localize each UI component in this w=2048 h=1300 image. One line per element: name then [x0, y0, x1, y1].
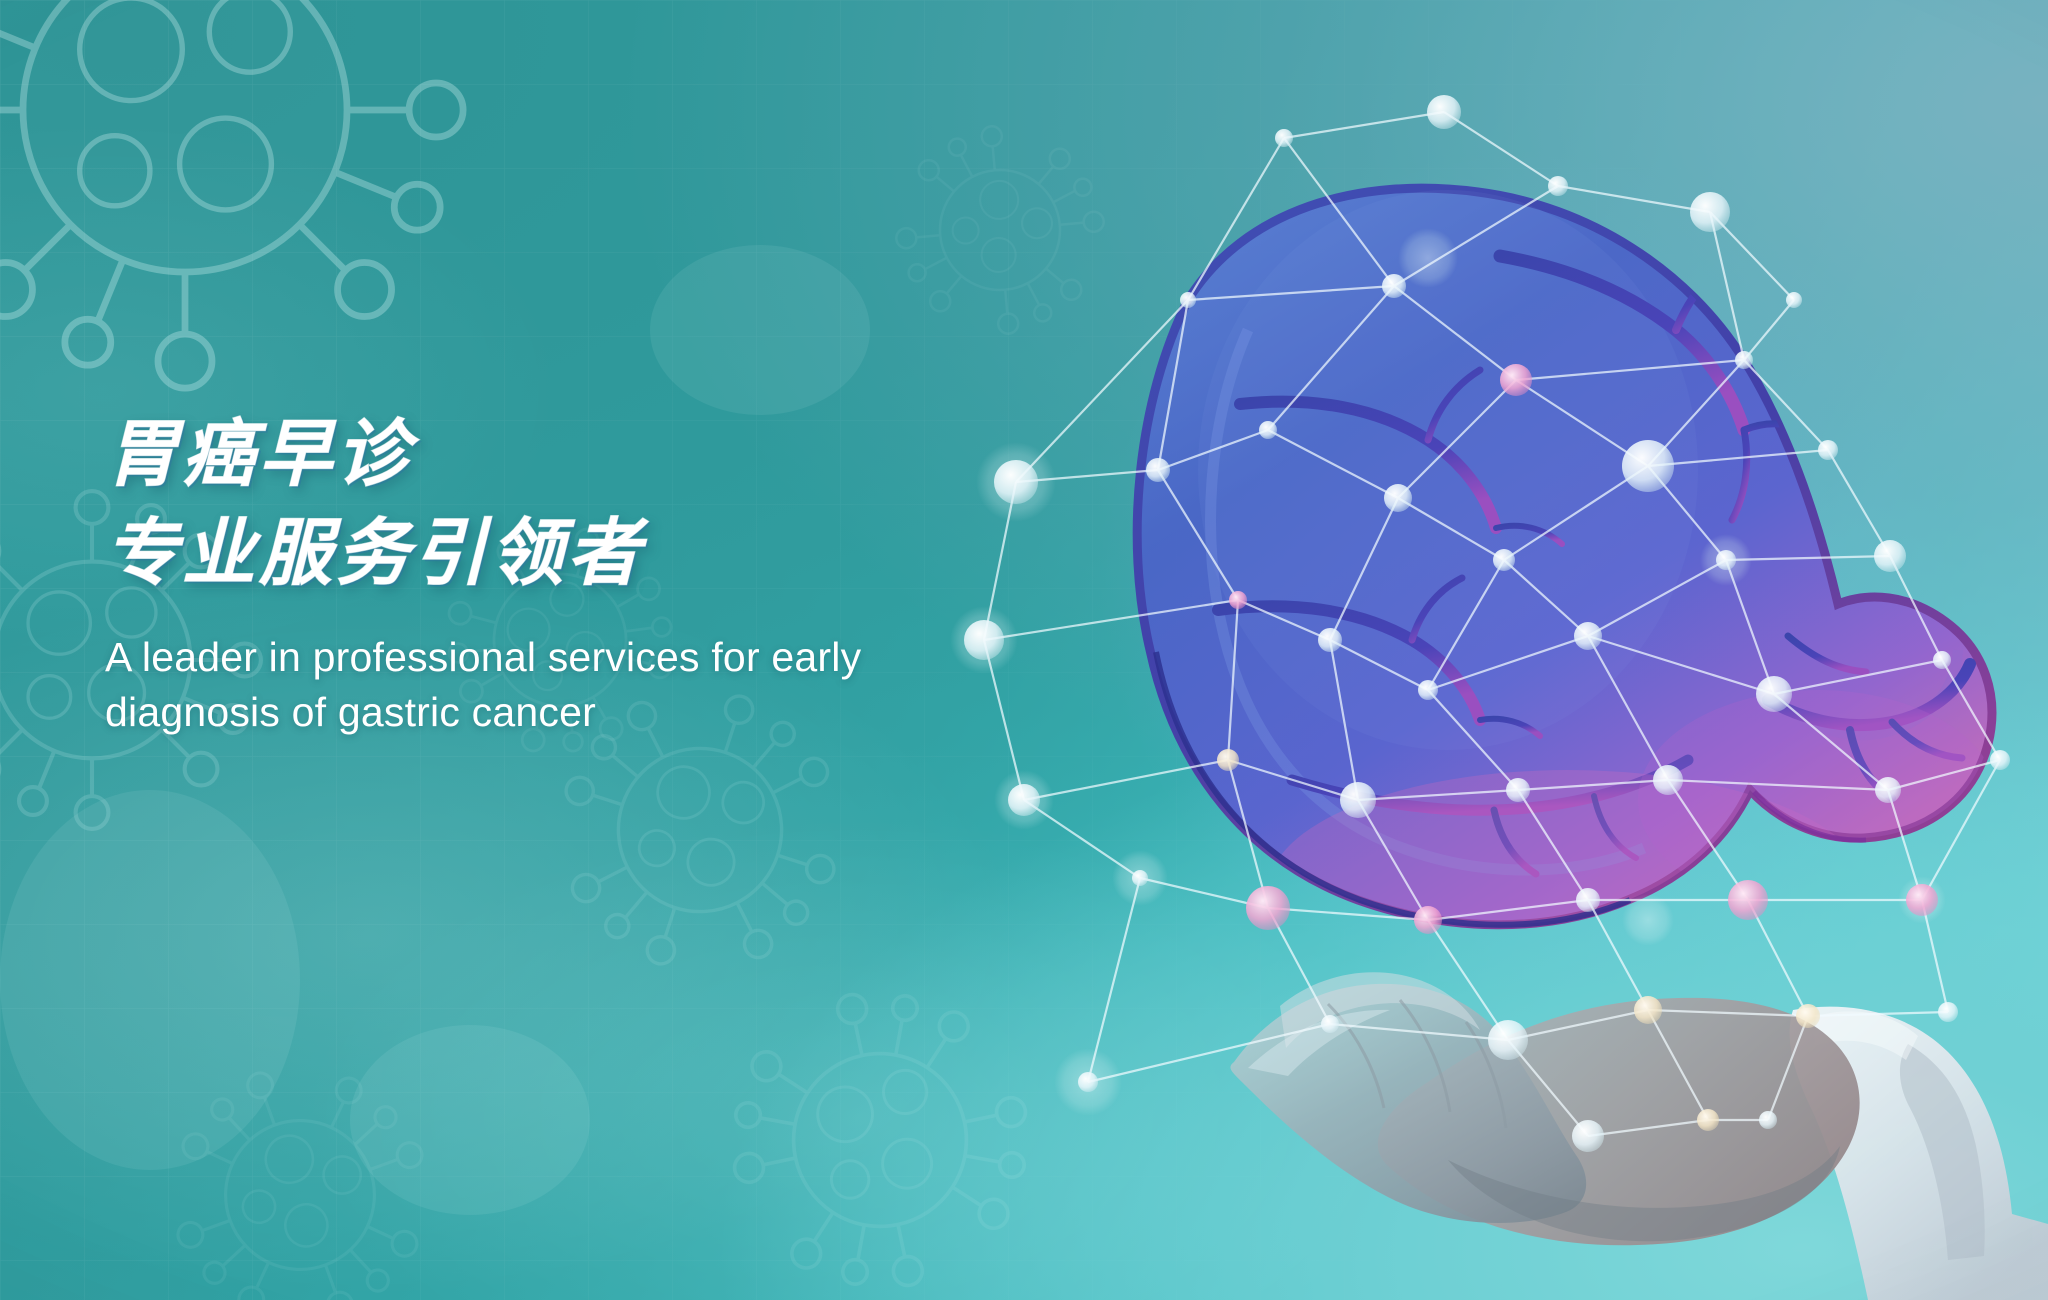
banner-copy: 胃癌早诊 专业服务引领者 A leader in professional se… — [105, 418, 1105, 739]
headline-cn-line2: 专业服务引领者 — [105, 517, 1105, 590]
subtitle-en-line1: A leader in professional services for ea… — [105, 630, 1105, 685]
subtitle-en-line2: diagnosis of gastric cancer — [105, 685, 1105, 740]
banner-root: 胃癌早诊 专业服务引领者 A leader in professional se… — [0, 0, 2048, 1300]
subtitle-en: A leader in professional services for ea… — [105, 630, 1105, 739]
headline-cn-line1: 胃癌早诊 — [105, 418, 1105, 491]
